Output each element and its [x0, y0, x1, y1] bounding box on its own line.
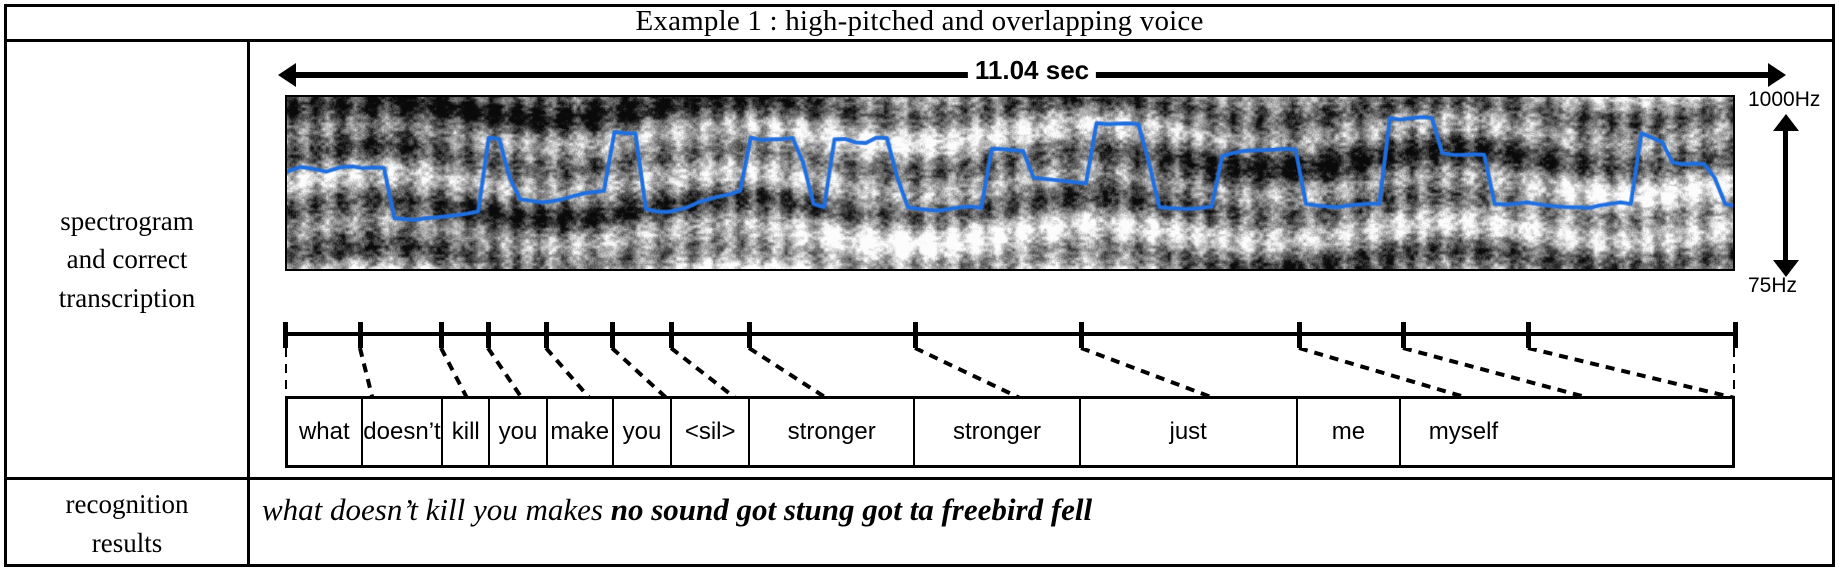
recognition-results-plain: what doesn’t kill you makes	[262, 492, 611, 527]
transcription-word-cell: you	[614, 399, 673, 465]
row-label-recognition: recognition results	[7, 480, 247, 567]
frequency-axis-line	[1783, 126, 1788, 271]
transcription-word-cell: me	[1298, 399, 1402, 465]
transcription-word-label: stronger	[788, 418, 876, 446]
recognition-results-text: what doesn’t kill you makes no sound got…	[262, 492, 1092, 528]
segmentation-connector-line	[1299, 348, 1468, 398]
row-label-recognition-line-2: results	[66, 524, 189, 562]
transcription-word-label: doesn’t	[363, 418, 440, 446]
segmentation-tick	[913, 322, 918, 348]
frequency-max-label: 1000Hz	[1748, 88, 1820, 112]
segmentation-tick	[1733, 322, 1738, 348]
segmentation-connector-line	[1081, 348, 1214, 398]
transcription-word-row: whatdoesn’tkillyoumakeyou<sil>strongerst…	[285, 396, 1735, 468]
segmentation-connector-line	[360, 348, 372, 398]
spectrogram-canvas	[287, 97, 1733, 269]
transcription-word-cell: stronger	[750, 399, 915, 465]
segmentation-tick	[1297, 322, 1302, 348]
segmentation-tick	[283, 322, 288, 348]
transcription-word-label: just	[1170, 418, 1207, 446]
segmentation-tick	[486, 322, 491, 348]
transcription-word-cell: make	[548, 399, 614, 465]
segmentation-tick	[747, 322, 752, 348]
row-label-spectrogram: spectrogram and correct transcription	[7, 42, 247, 477]
transcription-word-label: myself	[1429, 418, 1498, 446]
segmentation-connector-line	[671, 348, 735, 398]
segmentation-tick	[439, 322, 444, 348]
segmentation-timeline	[285, 322, 1735, 348]
segmentation-tick	[358, 322, 363, 348]
segmentation-tick	[669, 322, 674, 348]
segmentation-tick	[1401, 322, 1406, 348]
label-column-divider	[247, 42, 250, 567]
transcription-word-label: you	[623, 418, 662, 446]
segmentation-connector-line	[612, 348, 666, 398]
transcription-word-cell: stronger	[915, 399, 1080, 465]
transcription-word-label: what	[299, 418, 350, 446]
segmentation-connector-line	[749, 348, 826, 398]
segmentation-tick	[1079, 322, 1084, 348]
frequency-axis: 1000Hz 75Hz	[1748, 88, 1836, 303]
arrow-right-icon	[1768, 63, 1786, 87]
segmentation-connector-line	[488, 348, 522, 398]
transcription-word-label: make	[550, 418, 609, 446]
figure-title-row: Example 1 : high-pitched and overlapping…	[4, 4, 1835, 42]
segmentation-connector-line	[546, 348, 589, 398]
duration-indicator: 11.04 sec	[278, 58, 1786, 92]
transcription-word-cell: <sil>	[672, 399, 750, 465]
spectrogram-panel	[285, 95, 1735, 271]
transcription-word-label: stronger	[953, 418, 1041, 446]
segmentation-baseline	[285, 332, 1735, 336]
transcription-word-label: me	[1332, 418, 1365, 446]
segmentation-connectors	[285, 348, 1735, 398]
transcription-word-label: <sil>	[685, 418, 736, 446]
connector-svg	[285, 348, 1735, 398]
recognition-results-row: what doesn’t kill you makes no sound got…	[262, 480, 1822, 567]
row-label-recognition-line-1: recognition	[66, 485, 189, 523]
segmentation-tick	[544, 322, 549, 348]
transcription-word-cell: doesn’t	[363, 399, 444, 465]
page-title: Example 1 : high-pitched and overlapping…	[635, 5, 1203, 38]
duration-label: 11.04 sec	[968, 55, 1096, 86]
figure-root: Example 1 : high-pitched and overlapping…	[0, 0, 1839, 571]
transcription-word-cell: just	[1081, 399, 1298, 465]
row-label-recognition-text: recognition results	[66, 485, 189, 562]
row-label-spectrogram-line-3: transcription	[59, 279, 195, 317]
row-label-spectrogram-line-2: and correct	[59, 240, 195, 278]
transcription-word-label: kill	[452, 418, 480, 446]
arrow-left-icon	[278, 63, 296, 87]
transcription-word-cell: kill	[443, 399, 490, 465]
segmentation-tick	[1526, 322, 1531, 348]
transcription-word-cell: what	[288, 399, 363, 465]
recognition-results-bold: no sound got stung got ta freebird fell	[611, 492, 1092, 527]
row-label-spectrogram-text: spectrogram and correct transcription	[59, 202, 195, 317]
row-label-spectrogram-line-1: spectrogram	[59, 202, 195, 240]
transcription-word-cell: myself	[1401, 399, 1525, 465]
transcription-word-cell: you	[490, 399, 548, 465]
frequency-min-label: 75Hz	[1748, 274, 1797, 298]
segmentation-connector-line	[915, 348, 1020, 398]
transcription-word-label: you	[499, 418, 538, 446]
segmentation-tick	[610, 322, 615, 348]
segmentation-connector-line	[441, 348, 467, 398]
